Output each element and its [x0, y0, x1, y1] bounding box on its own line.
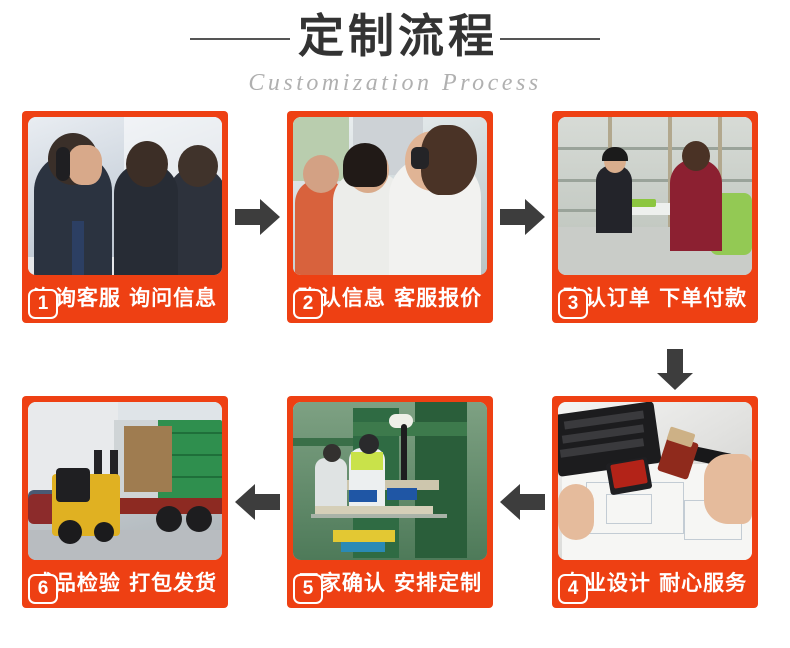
- headset-operators-photo: [293, 117, 487, 275]
- arrow-step1-to-step2: [228, 111, 287, 323]
- arrow-step3-to-step4: [655, 349, 695, 391]
- step-badge-1: 1: [28, 289, 58, 319]
- step-card-5[interactable]: 5 买家确认 安排定制: [287, 396, 493, 608]
- step-card-6[interactable]: 6 成品检验 打包发货: [22, 396, 228, 608]
- forklift-container-loading-photo: [28, 402, 222, 560]
- step-card-1[interactable]: 1 咨询客服 询问信息: [22, 111, 228, 323]
- title-row: 定制流程: [0, 6, 790, 66]
- arrow-step5-to-step6: [228, 396, 287, 608]
- step-card-3[interactable]: 3 确认订单 下单付款: [552, 111, 758, 323]
- arrow-right-icon: [500, 197, 546, 237]
- step-badge-4: 4: [558, 574, 588, 604]
- step-card-4[interactable]: 4 专业设计 耐心服务: [552, 396, 758, 608]
- step-badge-2: 2: [293, 289, 323, 319]
- step-badge-3: 3: [558, 289, 588, 319]
- page-title: 定制流程: [298, 8, 498, 64]
- process-row-top: 1 咨询客服 询问信息 2 确认信息 客服报价: [0, 111, 790, 341]
- process-grid: 1 咨询客服 询问信息 2 确认信息 客服报价: [0, 111, 790, 626]
- arrow-left-icon: [235, 482, 281, 522]
- arrow-step2-to-step3: [493, 111, 552, 323]
- call-center-agents-photo: [28, 117, 222, 275]
- title-rule-left: [190, 38, 290, 40]
- process-row-bottom: 6 成品检验 打包发货: [0, 396, 790, 626]
- factory-production-photo: [293, 402, 487, 560]
- step-badge-6: 6: [28, 574, 58, 604]
- arrow-step4-to-step5: [493, 396, 552, 608]
- page-subtitle: Customization Process: [0, 70, 790, 97]
- step-card-2[interactable]: 2 确认信息 客服报价: [287, 111, 493, 323]
- stamping-blueprint-photo: [558, 402, 752, 560]
- arrow-down-icon: [655, 349, 695, 391]
- arrow-right-icon: [235, 197, 281, 237]
- showroom-meeting-photo: [558, 117, 752, 275]
- step-badge-5: 5: [293, 574, 323, 604]
- title-rule-right: [500, 38, 600, 40]
- arrow-row: [0, 341, 790, 396]
- page-header: 定制流程 Customization Process: [0, 0, 790, 97]
- arrow-left-icon: [500, 482, 546, 522]
